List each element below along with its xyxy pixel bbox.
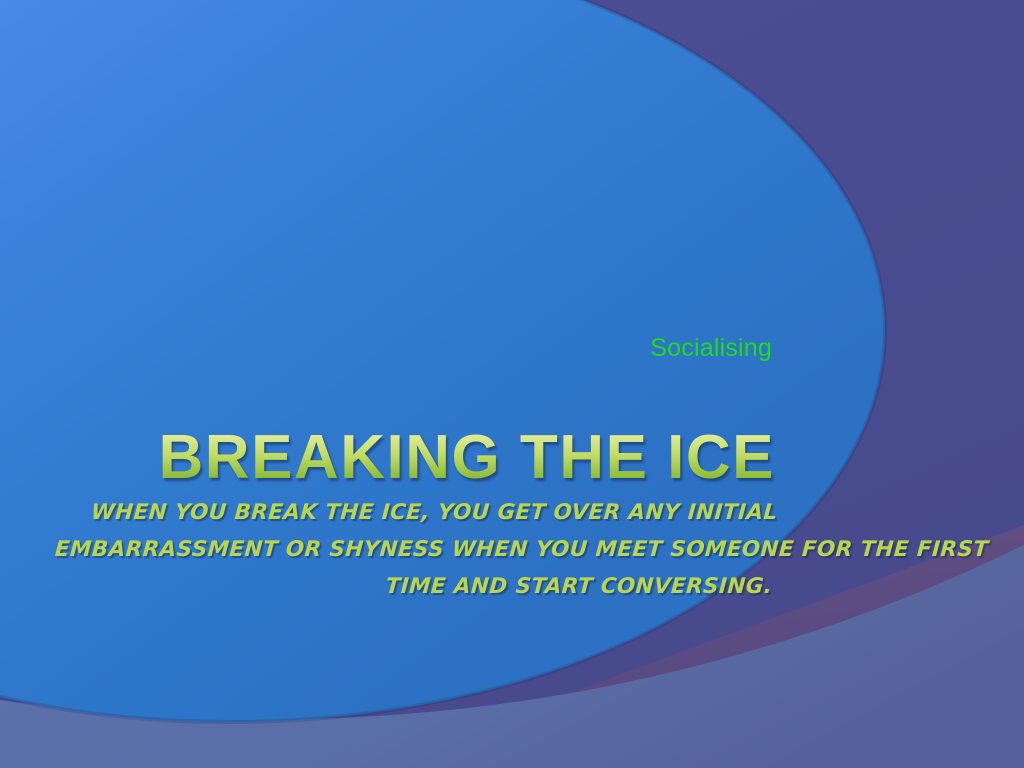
body-line-3: TIME AND START CONVERSING.: [51, 568, 774, 605]
presentation-slide: Socialising BREAKING THE ICE WHEN YOU BR…: [0, 0, 1024, 768]
body-line-1: WHEN YOU BREAK THE ICE, YOU GET OVER ANY…: [56, 494, 779, 531]
page-title: BREAKING THE ICE: [0, 425, 775, 490]
body-line-2: EMBARRASSMENT OR SHYNESS WHEN YOU MEET S…: [54, 531, 777, 568]
slide-body-text: WHEN YOU BREAK THE ICE, YOU GET OVER ANY…: [51, 494, 779, 605]
slide-kicker: Socialising: [0, 335, 772, 363]
slide-content: Socialising BREAKING THE ICE WHEN YOU BR…: [0, 0, 1024, 768]
